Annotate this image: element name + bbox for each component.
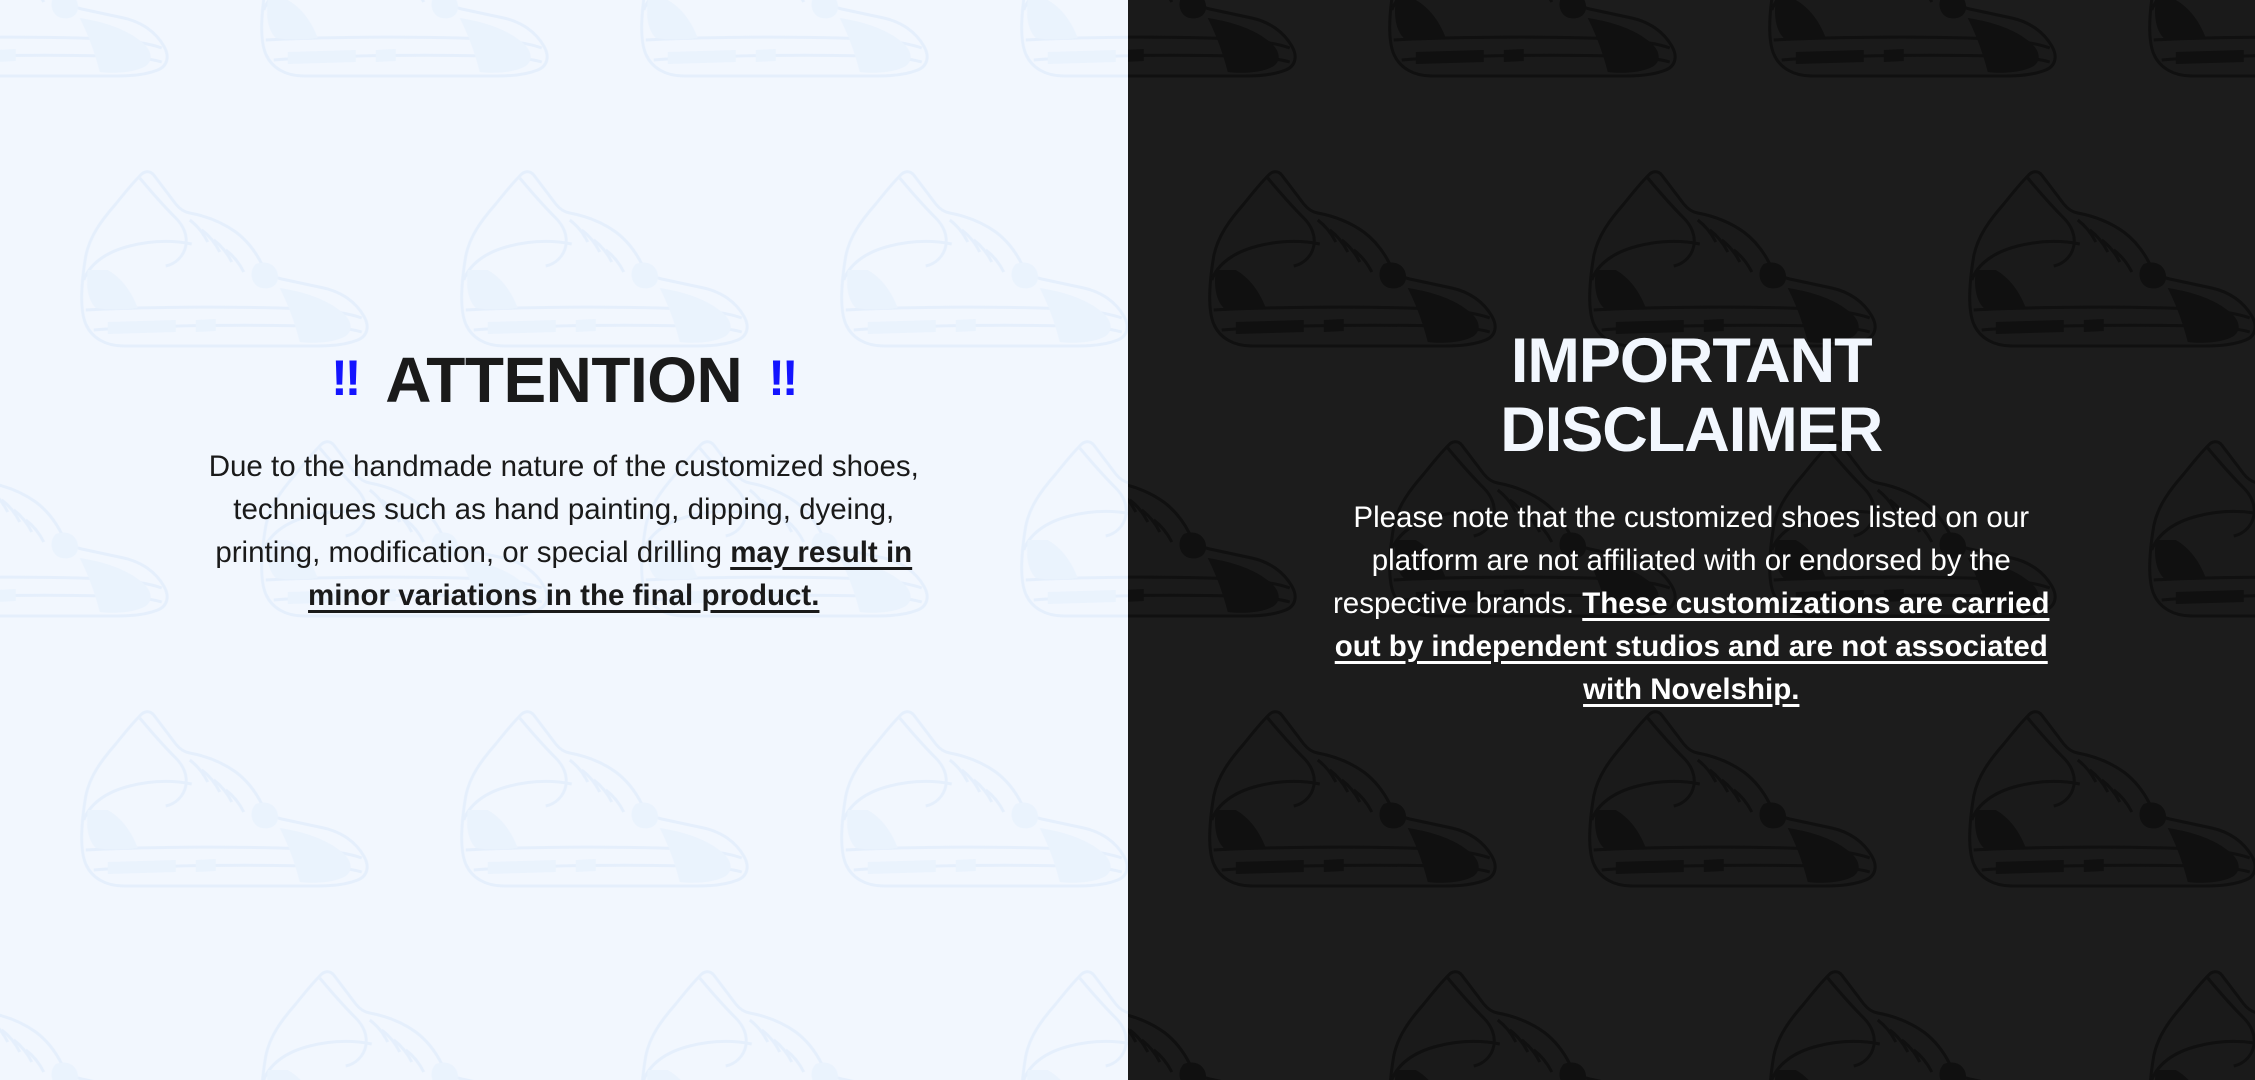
disclaimer-body: Please note that the customized shoes li…	[1311, 496, 2071, 711]
disclaimer-banner: ‼ ATTENTION ‼ Due to the handmade nature…	[0, 0, 2255, 1080]
attention-heading-text: ATTENTION	[385, 348, 742, 412]
disclaimer-content: IMPORTANT DISCLAIMER Please note that th…	[1128, 0, 2255, 711]
double-exclamation-icon-right: ‼	[768, 353, 796, 403]
disclaimer-heading-line-1: IMPORTANT	[1511, 326, 1872, 396]
attention-content: ‼ ATTENTION ‼ Due to the handmade nature…	[0, 0, 1128, 617]
disclaimer-panel: IMPORTANT DISCLAIMER Please note that th…	[1128, 0, 2255, 1080]
attention-panel: ‼ ATTENTION ‼ Due to the handmade nature…	[0, 0, 1128, 1080]
disclaimer-heading: IMPORTANT DISCLAIMER	[1278, 327, 2106, 466]
disclaimer-heading-line-2: DISCLAIMER	[1500, 395, 1882, 465]
double-exclamation-icon-left: ‼	[331, 353, 359, 403]
attention-body: Due to the handmade nature of the custom…	[204, 445, 924, 617]
attention-heading: ‼ ATTENTION ‼	[160, 348, 968, 412]
